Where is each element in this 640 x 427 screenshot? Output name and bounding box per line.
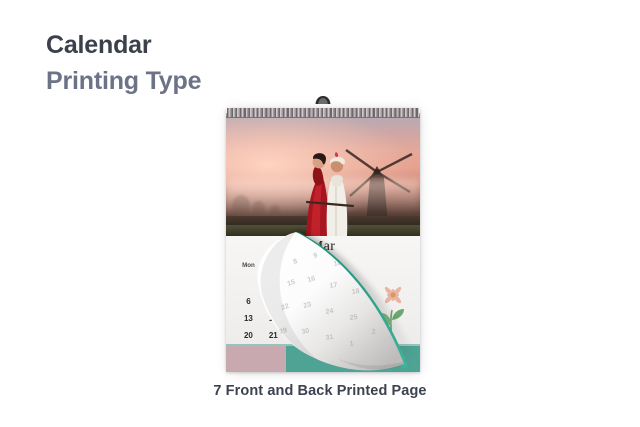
weekday-label	[360, 262, 385, 269]
weekday-label	[385, 262, 410, 269]
footer-color-band	[226, 346, 420, 372]
date-cell: 13	[236, 314, 261, 323]
title-line-primary: Calendar	[46, 30, 201, 60]
binding-coils	[227, 108, 419, 117]
weekday-label: Tue	[261, 262, 286, 269]
title-line-secondary: Printing Type	[46, 66, 201, 96]
date-cell: 1	[286, 280, 311, 289]
band-segment-right	[286, 346, 420, 372]
weekday-label	[335, 262, 360, 269]
date-cell: 6	[236, 297, 261, 306]
weekday-header: Mon Tue Wed T	[236, 262, 410, 269]
weekday-label: Wed	[286, 262, 311, 269]
date-cell: 20	[236, 331, 261, 340]
band-segment-left	[226, 346, 286, 372]
date-cell: 14	[261, 314, 286, 323]
weekday-label: Mon	[236, 262, 261, 269]
calendar-photo	[226, 118, 420, 236]
calendar-mockup: Mar Mon Tue Wed T 1	[226, 100, 420, 372]
couple-figure	[287, 140, 363, 236]
spiral-binding	[226, 108, 420, 119]
weekday-label: T	[311, 262, 336, 269]
date-cell: 7	[261, 297, 286, 306]
calendar-body: Mar Mon Tue Wed T 1	[226, 108, 420, 372]
month-label: Mar	[226, 239, 420, 255]
caption-text: 7 Front and Back Printed Page	[0, 383, 640, 399]
page-title: Calendar Printing Type	[46, 30, 201, 96]
hanging-hook-icon	[314, 95, 332, 105]
calendar-grid-sheet: Mar Mon Tue Wed T 1	[226, 236, 420, 372]
poster-canvas: Calendar Printing Type	[0, 0, 640, 427]
flower-icon	[370, 286, 416, 342]
date-cell: 21	[261, 331, 286, 340]
